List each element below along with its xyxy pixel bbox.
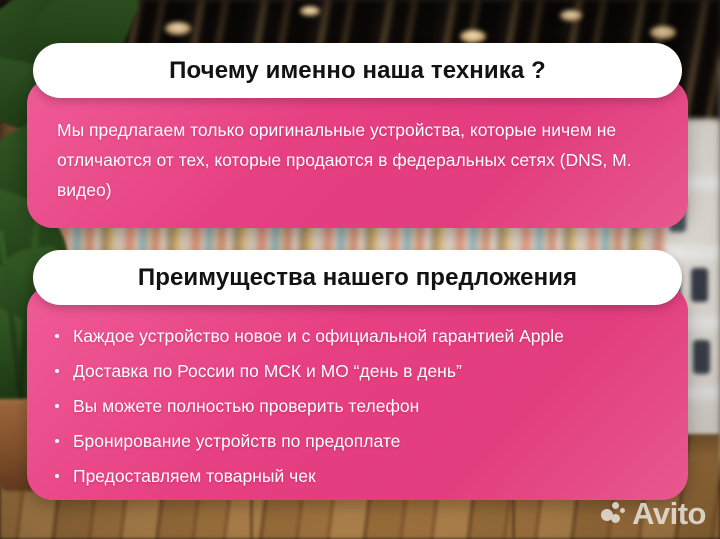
bullet-dot-icon bbox=[55, 474, 59, 478]
avito-dots-icon bbox=[601, 501, 627, 527]
list-item-label: Предоставляем товарный чек bbox=[73, 466, 316, 486]
advantages-list: Каждое устройство новое и с официальной … bbox=[51, 325, 671, 500]
background-phone bbox=[691, 268, 708, 302]
section-header-pill-our-advantages: Преимущества нашего предложения bbox=[33, 250, 682, 305]
list-item-label: Вы можете полностью проверить телефон bbox=[73, 396, 419, 416]
advertisement-image: Мы предлагаем только оригинальные устрой… bbox=[0, 0, 720, 539]
list-item-label: Доставка по России по МСК и МО “день в д… bbox=[73, 361, 462, 381]
bullet-dot-icon bbox=[55, 369, 59, 373]
section-body-text: Мы предлагаем только оригинальные устрой… bbox=[57, 115, 652, 205]
section-card-why-our-tech: Мы предлагаем только оригинальные устрой… bbox=[27, 78, 688, 228]
avito-watermark: Avito bbox=[601, 498, 706, 529]
ceiling-light-icon bbox=[300, 6, 320, 16]
avito-wordmark: Avito bbox=[632, 498, 706, 529]
bullet-dot-icon bbox=[55, 439, 59, 443]
list-item: Предоставляем товарный чек bbox=[51, 465, 671, 487]
section-card-our-advantages: Каждое устройство новое и с официальной … bbox=[27, 285, 688, 500]
list-item: Доставка по России по МСК и МО “день в д… bbox=[51, 360, 671, 382]
background-phone bbox=[693, 340, 710, 374]
list-item-label: Бронирование устройств по предоплате bbox=[73, 431, 400, 451]
ceiling-light-icon bbox=[650, 26, 676, 39]
ceiling-light-icon bbox=[560, 10, 582, 21]
bullet-dot-icon bbox=[55, 334, 59, 338]
section-title: Преимущества нашего предложения bbox=[138, 264, 577, 292]
ceiling-light-icon bbox=[165, 22, 191, 35]
list-item: Бронирование устройств по предоплате bbox=[51, 430, 671, 452]
list-item: Вы можете полностью проверить телефон bbox=[51, 395, 671, 417]
bullet-dot-icon bbox=[55, 404, 59, 408]
section-header-pill-why-our-tech: Почему именно наша техника ? bbox=[33, 43, 682, 98]
section-title: Почему именно наша техника ? bbox=[169, 57, 546, 85]
list-item: Каждое устройство новое и с официальной … bbox=[51, 325, 671, 347]
list-item-label: Каждое устройство новое и с официальной … bbox=[73, 326, 564, 346]
ceiling-light-icon bbox=[460, 30, 486, 43]
